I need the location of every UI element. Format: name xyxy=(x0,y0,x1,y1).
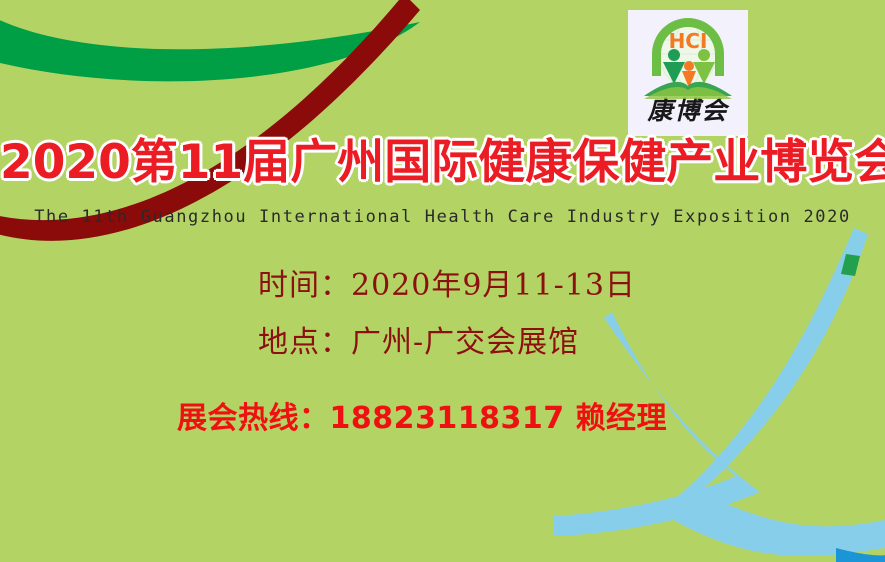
logo: HCI 康博会 xyxy=(628,10,748,136)
event-location: 地点：广州-广交会展馆 xyxy=(258,317,579,361)
page-subtitle: The 11th Guangzhou International Health … xyxy=(0,207,885,227)
page-title: 2020第11届广州国际健康保健产业博览会 xyxy=(0,138,885,187)
logo-figure-left-head xyxy=(668,49,680,61)
hci-logo-icon: HCI xyxy=(636,14,740,100)
exhibition-poster: HCI 康博会 2020第11届广州国际健康保健产业博览会 The 11th G… xyxy=(0,0,885,562)
event-time: 时间：2020年9月11-13日 xyxy=(258,260,636,304)
logo-chinese-name: 康博会 xyxy=(647,98,728,123)
logo-figure-right-head xyxy=(698,49,710,61)
contact-hotline: 展会热线：18823118317 赖经理 xyxy=(177,393,667,437)
logo-figure-child-head xyxy=(684,61,694,71)
